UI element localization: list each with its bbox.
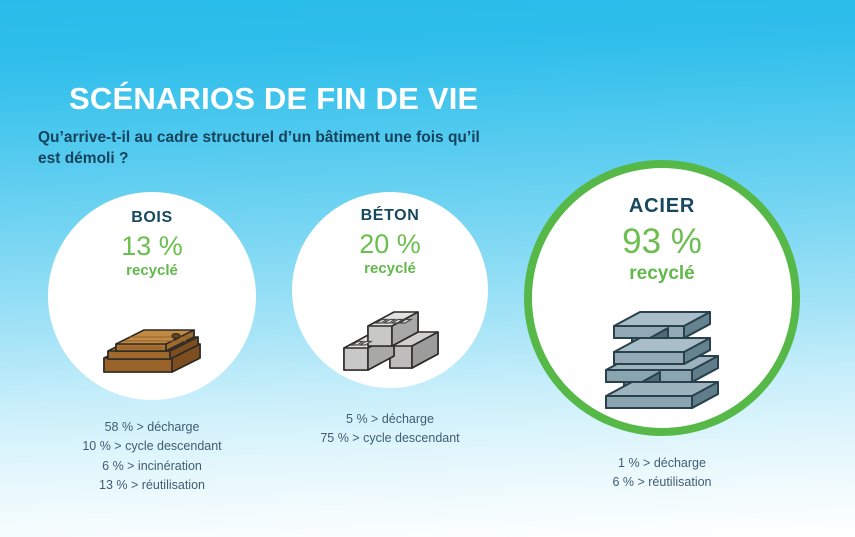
material-name-acier: ACIER	[629, 196, 695, 216]
fate-item: 1 % > décharge	[512, 454, 812, 473]
fate-item: 75 % > cycle descendant	[285, 429, 495, 448]
material-percent-bois: 13 %	[121, 231, 183, 262]
material-recycled-label-bois: recyclé	[126, 263, 178, 278]
fate-list-beton: 5 % > décharge 75 % > cycle descendant	[285, 410, 495, 449]
fate-list-acier: 1 % > décharge 6 % > réutilisation	[512, 454, 812, 493]
fate-item: 5 % > décharge	[285, 410, 495, 429]
material-percent-acier: 93 %	[622, 222, 702, 262]
material-percent-beton: 20 %	[359, 229, 421, 260]
material-recycled-label-acier: recyclé	[629, 264, 695, 283]
material-recycled-label-beton: recyclé	[364, 261, 416, 276]
fate-item: 10 % > cycle descendant	[38, 437, 266, 456]
fate-list-bois: 58 % > décharge 10 % > cycle descendant …	[38, 418, 266, 496]
infographic-canvas: SCÉNARIOS DE FIN DE VIE Qu’arrive-t-il a…	[0, 0, 855, 537]
page-title: SCÉNARIOS DE FIN DE VIE	[38, 82, 558, 116]
concrete-blocks-icon	[338, 302, 442, 374]
wood-planks-icon	[98, 324, 206, 386]
material-circle-acier: ACIER 93 % recyclé	[524, 160, 800, 436]
material-column-beton: BÉTON 20 % recyclé	[285, 192, 495, 449]
steel-beams-icon	[598, 308, 726, 410]
material-name-beton: BÉTON	[361, 208, 420, 224]
header: SCÉNARIOS DE FIN DE VIE Qu’arrive-t-il a…	[38, 82, 558, 169]
material-circle-bois: BOIS 13 % recyclé	[48, 192, 256, 400]
page-subtitle: Qu’arrive-t-il au cadre structurel d’un …	[38, 128, 493, 169]
fate-item: 6 % > réutilisation	[512, 473, 812, 492]
fate-item: 58 % > décharge	[38, 418, 266, 437]
material-name-bois: BOIS	[131, 210, 173, 226]
material-column-acier: ACIER 93 % recyclé	[512, 160, 812, 493]
material-column-bois: BOIS 13 % recyclé	[38, 192, 266, 496]
fate-item: 13 % > réutilisation	[38, 476, 266, 495]
material-circle-beton: BÉTON 20 % recyclé	[292, 192, 488, 388]
fate-item: 6 % > incinération	[38, 457, 266, 476]
